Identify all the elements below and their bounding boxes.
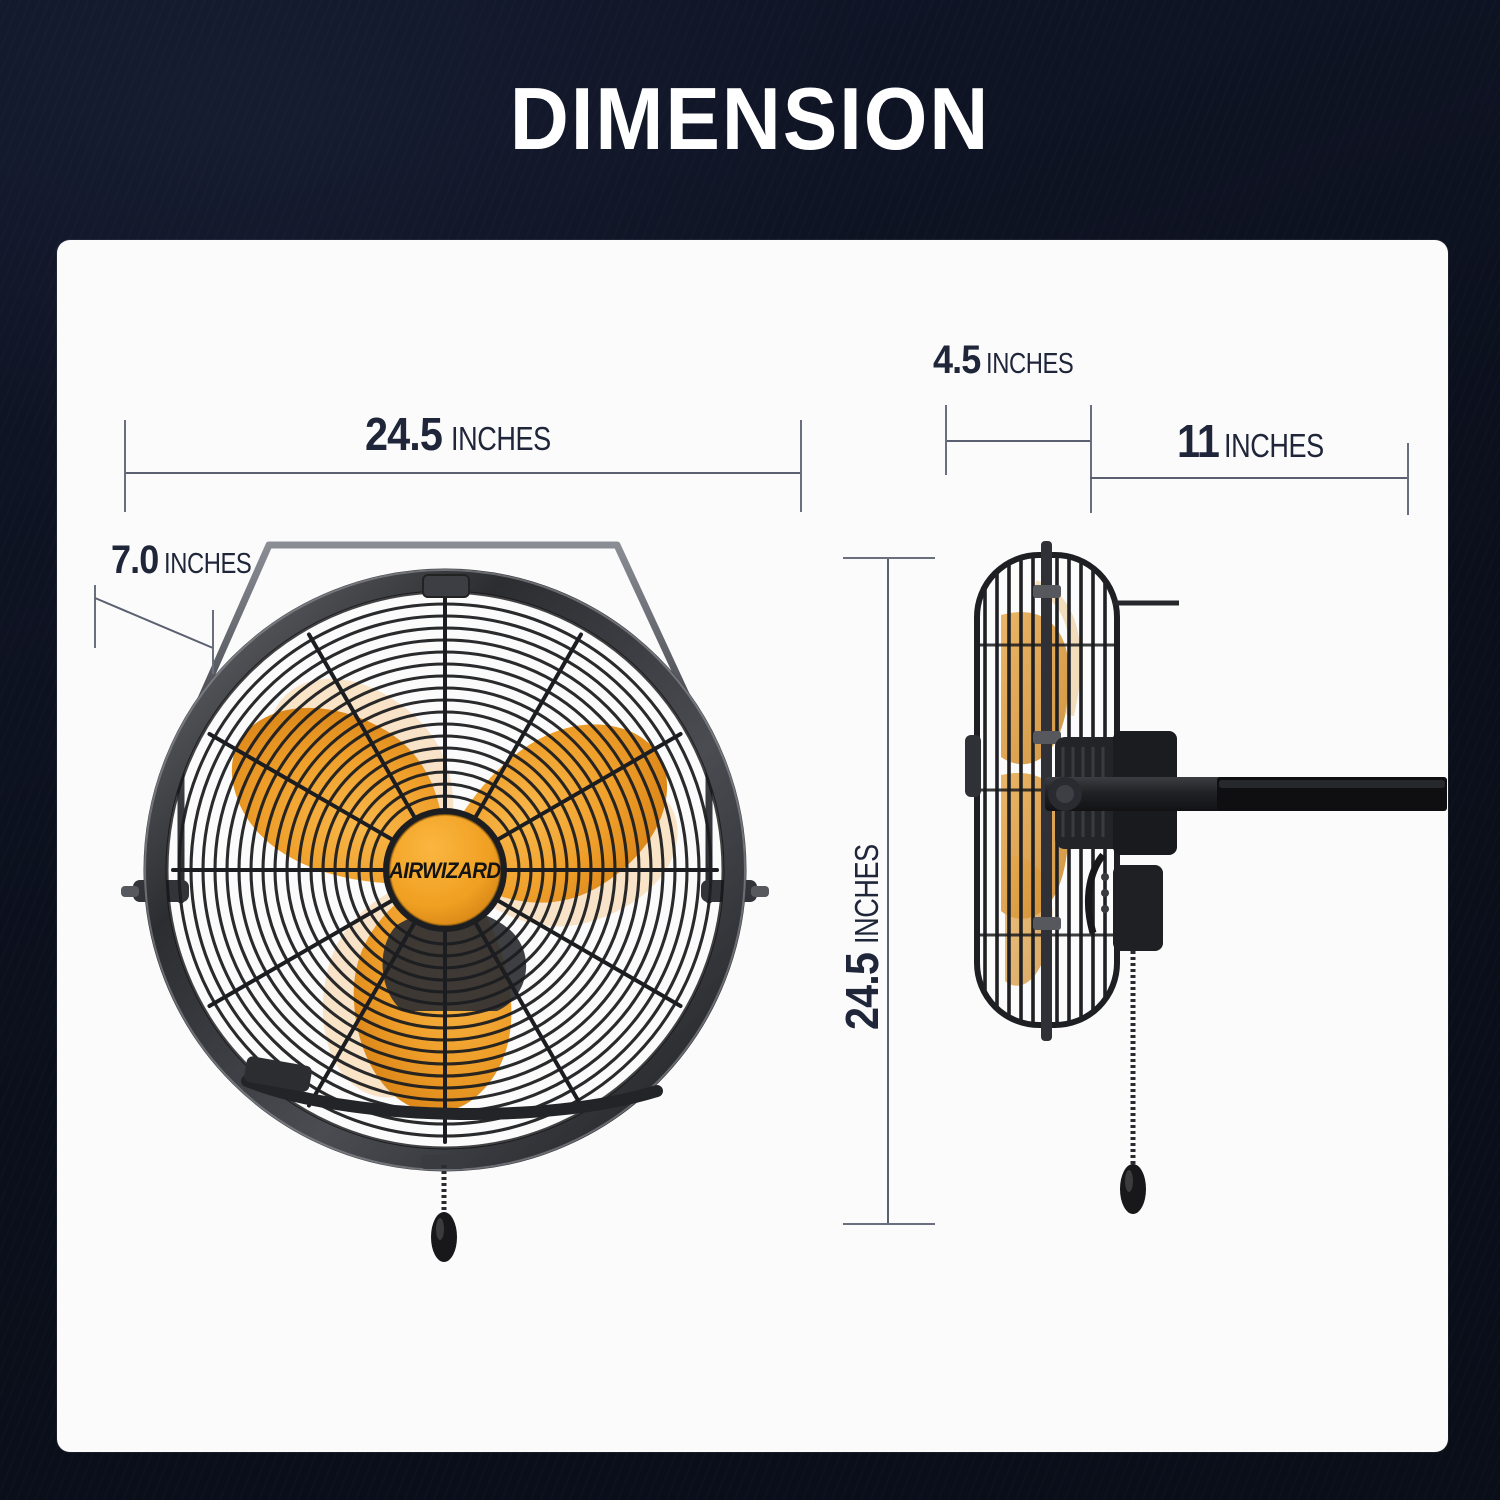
dim-front-width-unit: INCHES bbox=[451, 422, 551, 455]
dim-side-cage-value: 4.5 bbox=[933, 340, 980, 380]
dim-side-cage-tick-left bbox=[945, 405, 947, 475]
dim-side-height-tick-bottom bbox=[843, 1223, 935, 1225]
dim-front-depth-graphic bbox=[85, 570, 265, 680]
dim-front-width-tick-right bbox=[800, 420, 802, 512]
dim-front-depth-unit: INCHES bbox=[164, 550, 251, 579]
dim-side-arm-value: 11 bbox=[1177, 418, 1219, 464]
dim-side-height-label: 24.5INCHES bbox=[839, 823, 885, 1030]
dim-side-cage-tick-right bbox=[1090, 405, 1092, 513]
side-pivot-knob bbox=[965, 735, 981, 797]
dim-side-height-line bbox=[887, 557, 889, 1224]
dim-side-cage-line bbox=[945, 440, 1091, 442]
dim-front-depth-value: 7.0 bbox=[111, 540, 158, 580]
dim-front-width-value: 24.5 bbox=[365, 411, 442, 457]
diagram-panel: AIRWIZARD bbox=[57, 240, 1448, 1452]
control-box bbox=[1088, 855, 1163, 951]
brand-logo-text: AIRWIZARD bbox=[388, 858, 501, 883]
side-pull-chain-knob bbox=[1120, 1164, 1146, 1214]
dim-side-height-value: 24.5 bbox=[839, 953, 885, 1030]
pull-chain-knob bbox=[431, 1212, 457, 1262]
dim-side-height-unit: INCHES bbox=[850, 845, 883, 945]
dim-front-width-label: 24.5INCHES bbox=[365, 411, 572, 457]
dim-side-cage-label: 4.5INCHES bbox=[933, 340, 1092, 380]
dim-side-arm-label: 11INCHES bbox=[1177, 418, 1345, 464]
dim-side-arm-line bbox=[1090, 477, 1409, 479]
side-view-fan bbox=[927, 525, 1447, 1285]
dim-front-depth-label: 7.0INCHES bbox=[111, 540, 270, 580]
dim-side-cage-unit: INCHES bbox=[986, 350, 1073, 379]
side-pull-chain bbox=[1120, 951, 1146, 1214]
dim-front-width-tick-left bbox=[124, 420, 126, 512]
wall-mount-arm bbox=[1045, 777, 1447, 811]
dim-side-arm-unit: INCHES bbox=[1224, 429, 1324, 462]
page-title: DIMENSION bbox=[53, 68, 1448, 170]
dim-side-height-tick-top bbox=[843, 557, 935, 559]
dim-front-width-line bbox=[124, 472, 802, 474]
dimension-infographic: DIMENSION bbox=[0, 0, 1500, 1500]
cage-top-clip bbox=[423, 575, 469, 597]
dim-side-arm-tick-right bbox=[1407, 443, 1409, 515]
